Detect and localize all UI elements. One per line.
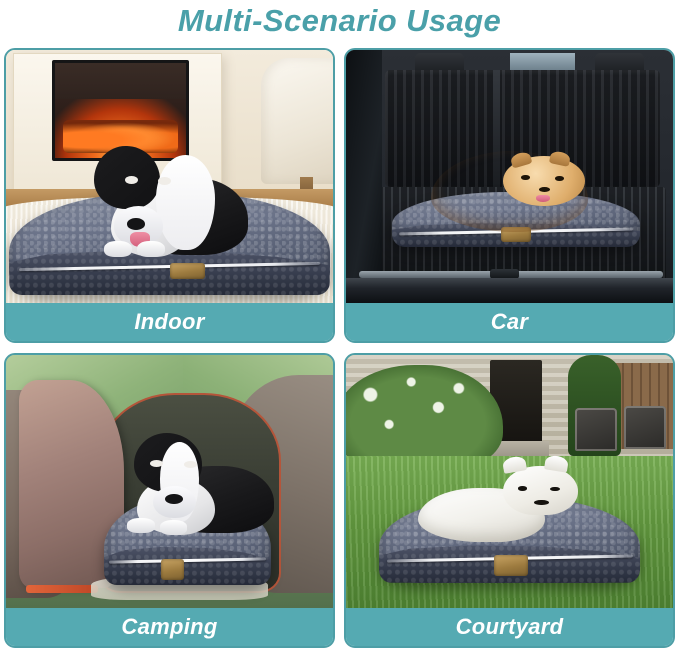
patio-chair-2: [624, 406, 667, 449]
scenario-photo-courtyard: [346, 355, 673, 608]
dog-paw-left: [104, 241, 132, 257]
scenario-photo-camping: [6, 355, 333, 608]
scenario-label-camping: Camping: [6, 608, 333, 646]
patio-chair-1: [575, 408, 618, 451]
page-title: Multi-Scenario Usage: [0, 0, 679, 44]
armchair: [261, 58, 333, 185]
indoor-scene: [6, 50, 333, 303]
dog-bed-logo-patch: [170, 263, 205, 279]
scenario-photo-car: [346, 50, 673, 303]
dog-border-collie: [111, 433, 275, 534]
scenario-grid: Indoor: [4, 48, 675, 668]
dog-eye-right: [184, 461, 197, 468]
courtyard-scene: [346, 355, 673, 608]
dog-west-highland-terrier: [418, 466, 582, 542]
product-feature-graphic: Multi-Scenario Usage: [0, 0, 679, 671]
car-tailgate: [346, 278, 673, 303]
scenario-card-courtyard[interactable]: Courtyard: [344, 353, 675, 648]
dog-nose: [534, 500, 549, 505]
dog-border-collie: [84, 141, 248, 257]
scenario-card-camping[interactable]: Camping: [4, 353, 335, 648]
dog-eye-left: [518, 486, 528, 491]
scenario-card-indoor[interactable]: Indoor: [4, 48, 335, 343]
scenario-label-courtyard: Courtyard: [346, 608, 673, 646]
dog-paw-right: [137, 241, 165, 257]
dog-pomeranian: [431, 151, 588, 232]
dog-nose: [539, 187, 550, 192]
dog-eye-left: [150, 460, 163, 467]
scenario-photo-indoor: [6, 50, 333, 303]
dog-paw-right: [160, 520, 188, 534]
dog-head: [503, 466, 578, 515]
tent-zipper: [26, 585, 98, 593]
dog-nose: [127, 218, 145, 230]
dog-bed-logo-patch: [161, 559, 184, 580]
car-left-pillar: [346, 50, 382, 303]
dog-face-blaze: [156, 155, 215, 250]
dog-bed-logo-patch: [494, 555, 528, 576]
scenario-label-indoor: Indoor: [6, 303, 333, 341]
scenario-label-car: Car: [346, 303, 673, 341]
car-scene: [346, 50, 673, 303]
scenario-card-car[interactable]: Car: [344, 48, 675, 343]
dog-paw-left: [127, 518, 155, 532]
camping-scene: [6, 355, 333, 608]
dog-nose: [165, 494, 183, 504]
